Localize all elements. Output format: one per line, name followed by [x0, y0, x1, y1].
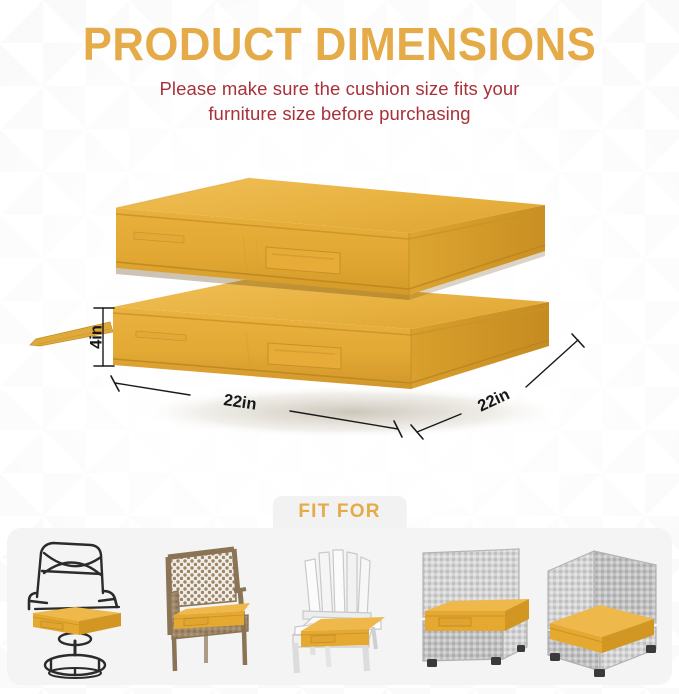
furniture-item-gray-wicker-corner-sectional: [537, 529, 668, 681]
page-subtitle: Please make sure the cushion size fits y…: [0, 69, 679, 126]
lower-cushion-handle: [268, 343, 341, 369]
cushion-tie-strap: [30, 322, 113, 346]
product-ground-shadow: [135, 386, 565, 438]
subtitle-line-1: Please make sure the cushion size fits y…: [159, 78, 519, 99]
header: PRODUCT DIMENSIONS Please make sure the …: [0, 0, 679, 126]
subtitle-line-2: furniture size before purchasing: [208, 103, 470, 124]
page-title: PRODUCT DIMENSIONS: [17, 0, 662, 69]
furniture-item-brown-wicker-dining-chair: [142, 529, 273, 681]
fit-for-badge: FIT FOR: [272, 496, 406, 529]
fit-for-panel: [7, 528, 672, 685]
furniture-item-gray-wicker-armless-sectional: [405, 529, 536, 681]
product-illustration: [0, 150, 679, 490]
furniture-item-white-adirondack-chair: [274, 529, 405, 681]
infographic-canvas: PRODUCT DIMENSIONS Please make sure the …: [0, 0, 679, 694]
lower-cushion: [30, 279, 549, 389]
furniture-item-black-metal-swivel-patio-chair: [11, 529, 142, 681]
cushion-on-furniture: [174, 603, 250, 629]
cushion-on-furniture: [33, 607, 121, 635]
